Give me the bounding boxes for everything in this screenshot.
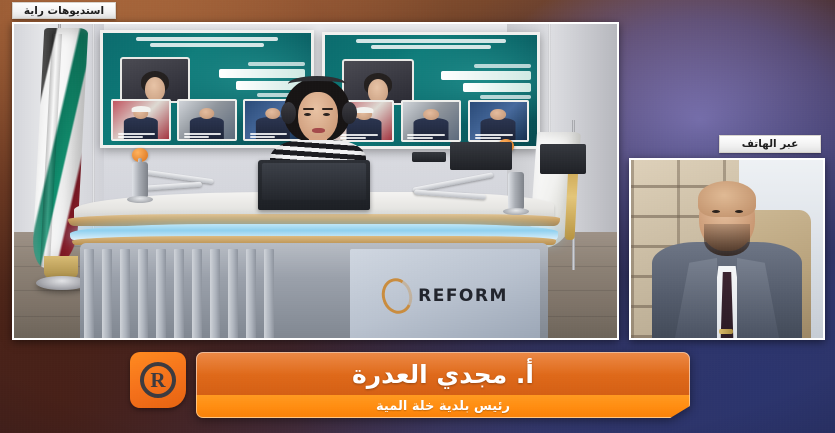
caller-source-tag: عبر الهاتف bbox=[719, 135, 821, 153]
headphones-band-icon bbox=[288, 76, 346, 92]
guest-head-top bbox=[698, 181, 756, 217]
desk-slats bbox=[84, 249, 352, 338]
poster-title-block bbox=[433, 61, 531, 101]
guest-name: أ. مجدي العدرة bbox=[352, 362, 534, 387]
guest-wristwatch bbox=[719, 329, 733, 334]
desk-equipment-box bbox=[540, 144, 586, 174]
source-tag: استديوهات راية bbox=[12, 2, 116, 19]
guest-scene bbox=[631, 160, 823, 338]
lower-third-subtitle-row: رئيس بلدية خلة المية bbox=[196, 395, 690, 418]
desk-front-panel: REFORM bbox=[80, 243, 548, 338]
lower-third-bar: أ. مجدي العدرة رئيس بلدية خلة المية bbox=[196, 352, 690, 418]
broadcast-frame: استديوهات راية bbox=[0, 0, 835, 433]
guest-beard bbox=[704, 224, 750, 256]
anchor-laptop bbox=[258, 160, 370, 210]
guest-title: رئيس بلدية خلة المية bbox=[376, 400, 510, 413]
channel-logo-badge: R bbox=[130, 352, 186, 408]
poster-hero-photo bbox=[120, 57, 191, 103]
anchor-desk: REFORM bbox=[74, 192, 554, 338]
poster-headline bbox=[338, 39, 525, 57]
desk-reform-logo-panel: REFORM bbox=[350, 249, 540, 338]
headphone-cup-right bbox=[342, 102, 357, 124]
headphone-cup-left bbox=[281, 102, 296, 124]
lower-third-title-row: أ. مجدي العدرة bbox=[196, 352, 690, 395]
desk-monitor-box bbox=[450, 142, 512, 170]
anchor-face bbox=[298, 92, 338, 142]
reform-wordmark: REFORM bbox=[418, 286, 508, 306]
laptop-screen bbox=[262, 163, 366, 200]
reform-ring-icon bbox=[378, 274, 417, 317]
studio-scene: REFORM bbox=[14, 24, 617, 338]
lower-third-banner: R أ. مجدي العدرة رئيس بلدية خلة المية bbox=[130, 352, 690, 418]
flag-fringe bbox=[44, 256, 78, 278]
guest-phone-video bbox=[629, 158, 825, 340]
main-studio-video: REFORM bbox=[12, 22, 619, 340]
channel-logo-r-icon: R bbox=[140, 362, 176, 398]
poster-headline bbox=[115, 37, 298, 55]
desk-equipment-box bbox=[412, 152, 446, 162]
